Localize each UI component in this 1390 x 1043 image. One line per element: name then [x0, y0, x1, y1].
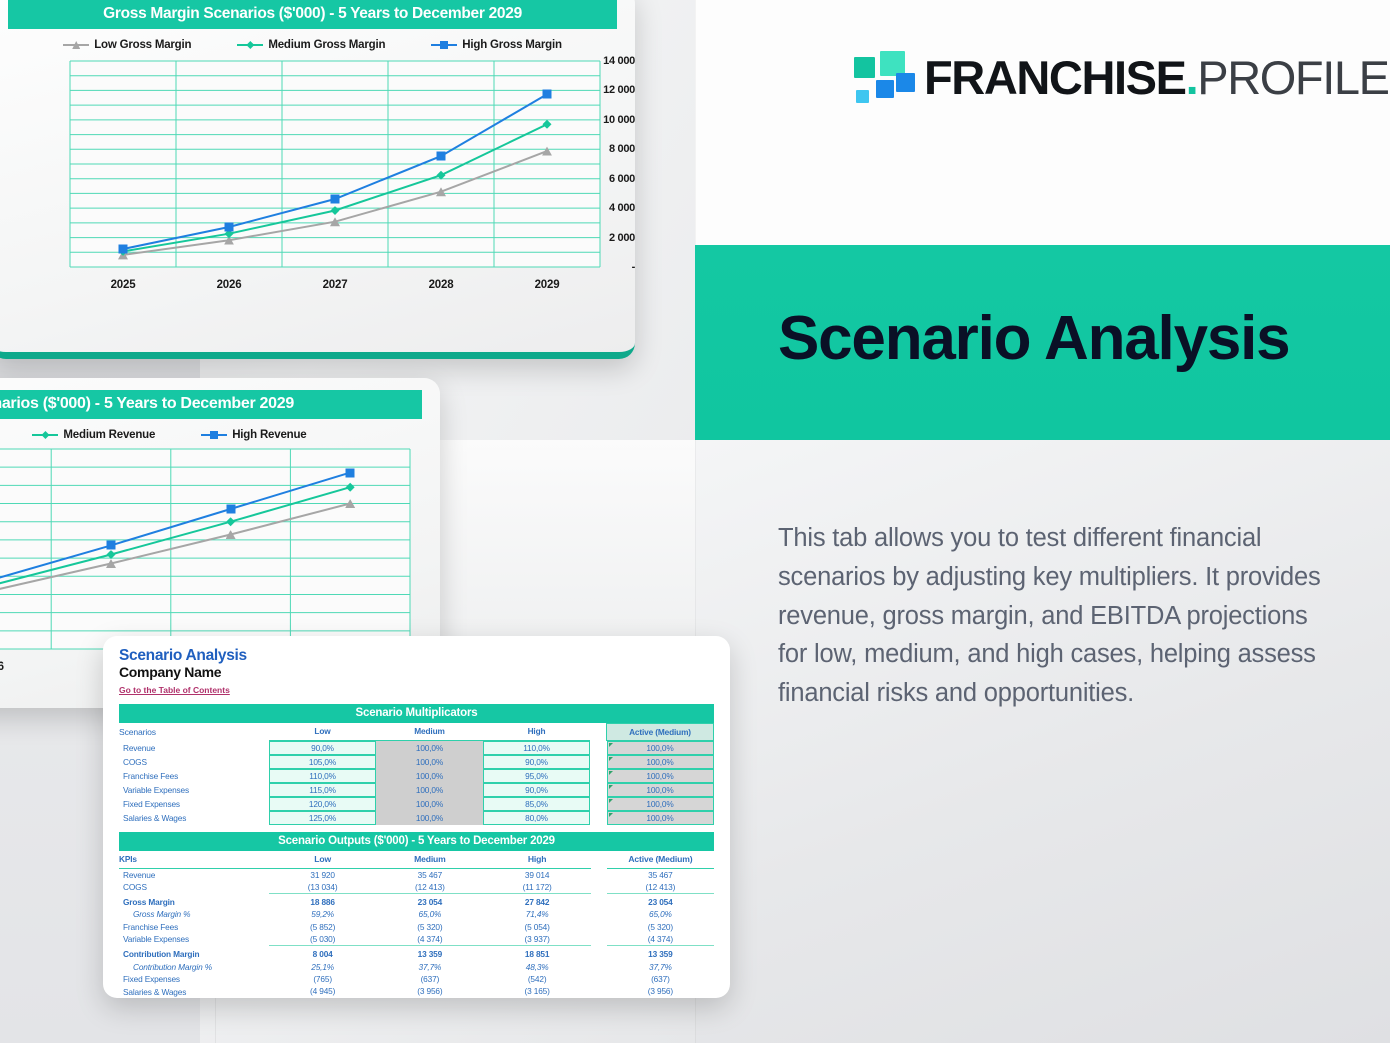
multiplicators-band: Scenario Multiplicators	[119, 704, 714, 723]
cell-low[interactable]: 125,0%	[269, 811, 376, 825]
y-axis-tick: -	[564, 261, 635, 273]
row-label: Franchise Fees	[119, 769, 269, 783]
gross-margin-chart-card: Gross Margin Scenarios ($'000) - 5 Years…	[0, 0, 635, 359]
legend-label-medium-revenue: Medium Revenue	[63, 429, 155, 441]
brand-logo: FRANCHISE.PROFILES	[852, 48, 1352, 110]
cell-medium[interactable]: 100,0%	[376, 769, 483, 783]
table-row: Revenue31 92035 46739 01435 467	[119, 868, 714, 881]
legend-marker-medium-icon	[237, 44, 263, 46]
cell-low: (5 030)	[269, 933, 376, 946]
cell-high: (5 054)	[484, 921, 591, 933]
cell-active[interactable]: 100,0%	[607, 811, 714, 825]
legend-marker-medium-icon	[32, 434, 58, 436]
y-axis-tick: 14 000	[564, 55, 635, 67]
x-axis-tick: 2025	[111, 279, 136, 291]
cell-medium[interactable]: 100,0%	[376, 741, 483, 755]
data-point	[437, 152, 446, 161]
scenario-analysis-sheet-card: Scenario Analysis Company Name Go to the…	[103, 636, 730, 998]
row-label: COGS	[119, 881, 269, 894]
cell-low[interactable]: 105,0%	[269, 755, 376, 769]
row-label: Salaries & Wages	[119, 985, 269, 998]
mult-header-high: High	[483, 723, 590, 741]
legend-marker-high-icon	[431, 44, 457, 46]
row-label: Franchise Fees	[119, 921, 269, 933]
legend-label-medium: Medium Gross Margin	[268, 39, 385, 51]
logo-word-light: PROFILES	[1197, 51, 1390, 104]
cell-high: 18 851	[484, 948, 591, 960]
cell-active[interactable]: 100,0%	[607, 797, 714, 811]
chart-legend-revenue: Low Revenue Medium Revenue High Revenue	[0, 429, 440, 441]
legend-item-high-revenue[interactable]: High Revenue	[201, 429, 306, 441]
logo-wordmark: FRANCHISE.PROFILES	[924, 48, 1390, 108]
data-point	[107, 541, 116, 550]
table-row: Gross Margin18 88623 05427 84223 054	[119, 896, 714, 908]
cell-low[interactable]: 110,0%	[269, 769, 376, 783]
row-label: Contribution Margin %	[119, 961, 269, 973]
cell-active[interactable]: 100,0%	[607, 755, 714, 769]
background-panel-top-right	[695, 0, 1390, 245]
data-point	[346, 468, 355, 477]
table-row: Contribution Margin %25,1%37,7%48,3%37,7…	[119, 961, 714, 973]
cell-high: (542)	[484, 973, 591, 985]
cell-medium[interactable]: 100,0%	[376, 755, 483, 769]
cell-high[interactable]: 80,0%	[483, 811, 590, 825]
cell-low[interactable]: 90,0%	[269, 741, 376, 755]
x-axis-tick: 2026	[217, 279, 242, 291]
cell-medium: 65,0%	[376, 908, 483, 920]
table-row: Franchise Fees110,0%100,0%95,0%100,0%	[119, 769, 714, 783]
legend-item-medium-revenue[interactable]: Medium Revenue	[32, 429, 155, 441]
cell-active: (3 956)	[607, 985, 714, 998]
chart-title-gross-margin: Gross Margin Scenarios ($'000) - 5 Years…	[8, 0, 617, 29]
row-label: Revenue	[119, 868, 269, 881]
cell-active: (637)	[607, 973, 714, 985]
table-row: Fixed Expenses120,0%100,0%85,0%100,0%	[119, 797, 714, 811]
x-axis-tick: 2029	[535, 279, 560, 291]
legend-label-high-revenue: High Revenue	[232, 429, 306, 441]
legend-marker-low-icon	[63, 44, 89, 46]
table-row: Fixed Expenses(765)(637)(542)(637)	[119, 973, 714, 985]
outputs-table: KPIs Low Medium High Active (Medium) Rev…	[119, 851, 714, 998]
row-label: Gross Margin %	[119, 908, 269, 920]
table-row: Franchise Fees(5 852)(5 320)(5 054)(5 32…	[119, 921, 714, 933]
legend-label-low: Low Gross Margin	[94, 39, 191, 51]
x-axis-tick: 2026	[0, 661, 4, 673]
mult-header-active: Active (Medium)	[607, 723, 714, 741]
cell-medium: (3 956)	[376, 985, 483, 998]
out-header-kpis: KPIs	[119, 851, 269, 868]
cell-high: 39 014	[484, 868, 591, 881]
table-row: COGS105,0%100,0%90,0%100,0%	[119, 755, 714, 769]
table-row: Variable Expenses115,0%100,0%90,0%100,0%	[119, 783, 714, 797]
cell-active: 35 467	[607, 868, 714, 881]
cell-active: 23 054	[607, 896, 714, 908]
cell-low: (765)	[269, 973, 376, 985]
cell-medium: 13 359	[376, 948, 483, 960]
row-label: Fixed Expenses	[119, 973, 269, 985]
table-of-contents-link[interactable]: Go to the Table of Contents	[119, 685, 230, 695]
multiplicators-body: Revenue90,0%100,0%110,0%100,0%COGS105,0%…	[119, 741, 714, 826]
data-point	[543, 90, 552, 99]
sheet-title: Scenario Analysis	[119, 647, 714, 665]
table-row: Revenue90,0%100,0%110,0%100,0%	[119, 741, 714, 756]
legend-marker-high-icon	[201, 434, 227, 436]
cell-high: (3 937)	[484, 933, 591, 946]
logo-dot: .	[1186, 51, 1198, 104]
cell-medium[interactable]: 100,0%	[376, 797, 483, 811]
sheet-company-name: Company Name	[119, 664, 714, 680]
row-label: Contribution Margin	[119, 948, 269, 960]
cell-low: 31 920	[269, 868, 376, 881]
cell-low[interactable]: 120,0%	[269, 797, 376, 811]
table-row: Salaries & Wages125,0%100,0%80,0%100,0%	[119, 811, 714, 825]
mult-header-medium: Medium	[376, 723, 483, 741]
cell-low: (5 852)	[269, 921, 376, 933]
chart-title-revenue: Revenue Scenarios ($'000) - 5 Years to D…	[0, 390, 422, 419]
cell-medium: 37,7%	[376, 961, 483, 973]
row-label: Variable Expenses	[119, 933, 269, 946]
y-axis-tick: 6 000	[564, 173, 635, 185]
out-header-active: Active (Medium)	[607, 851, 714, 868]
cell-medium: (12 413)	[376, 881, 483, 894]
cell-high[interactable]: 110,0%	[483, 741, 590, 755]
table-row: Salaries & Wages(4 945)(3 956)(3 165)(3 …	[119, 985, 714, 998]
cell-medium[interactable]: 100,0%	[376, 783, 483, 797]
cell-high[interactable]: 85,0%	[483, 797, 590, 811]
cell-low: 25,1%	[269, 961, 376, 973]
cell-active: (4 374)	[607, 933, 714, 946]
cell-low: (13 034)	[269, 881, 376, 894]
row-label: Gross Margin	[119, 896, 269, 908]
logo-squares-icon	[852, 50, 914, 106]
table-row: Contribution Margin8 00413 35918 85113 3…	[119, 948, 714, 960]
table-row: COGS(13 034)(12 413)(11 172)(12 413)	[119, 881, 714, 894]
mult-header-low: Low	[269, 723, 376, 741]
out-header-low: Low	[269, 851, 376, 868]
slide-canvas: FRANCHISE.PROFILES Scenario Analysis Thi…	[0, 0, 1390, 1043]
row-label: Salaries & Wages	[119, 811, 269, 825]
table-row: Variable Expenses(5 030)(4 374)(3 937)(4…	[119, 933, 714, 946]
outputs-header-row: KPIs Low Medium High Active (Medium)	[119, 851, 714, 868]
data-point	[226, 505, 235, 514]
y-axis-tick: 12 000	[564, 84, 635, 96]
multiplicators-header-row: Scenarios Low Medium High Active (Medium…	[119, 723, 714, 741]
cell-medium: 23 054	[376, 896, 483, 908]
cell-high: (11 172)	[484, 881, 591, 894]
cell-high: (3 165)	[484, 985, 591, 998]
logo-word-bold: FRANCHISE	[924, 51, 1186, 104]
cell-high: 27 842	[484, 896, 591, 908]
cell-active: 13 359	[607, 948, 714, 960]
cell-high[interactable]: 90,0%	[483, 783, 590, 797]
cell-high: 71,4%	[484, 908, 591, 920]
cell-active[interactable]: 100,0%	[607, 741, 714, 755]
cell-active: 37,7%	[607, 961, 714, 973]
data-point	[331, 195, 340, 204]
chart-svg	[0, 51, 635, 311]
data-point	[225, 223, 234, 232]
cell-medium[interactable]: 100,0%	[376, 811, 483, 825]
legend-item-medium[interactable]: Medium Gross Margin	[237, 39, 385, 51]
y-axis-tick: 8 000	[564, 143, 635, 155]
page-description: This tab allows you to test different fi…	[778, 519, 1330, 713]
cell-active: 65,0%	[607, 908, 714, 920]
legend-item-low[interactable]: Low Gross Margin	[63, 39, 191, 51]
out-header-high: High	[484, 851, 591, 868]
cell-low: 18 886	[269, 896, 376, 908]
cell-high[interactable]: 95,0%	[483, 769, 590, 783]
outputs-band: Scenario Outputs ($'000) - 5 Years to De…	[119, 832, 714, 851]
cell-active: (12 413)	[607, 881, 714, 894]
x-axis-tick: 2027	[323, 279, 348, 291]
data-point	[119, 245, 128, 254]
cell-active[interactable]: 100,0%	[607, 769, 714, 783]
cell-low: (4 945)	[269, 985, 376, 998]
cell-active[interactable]: 100,0%	[607, 783, 714, 797]
y-axis-tick: 4 000	[564, 202, 635, 214]
cell-low[interactable]: 115,0%	[269, 783, 376, 797]
cell-medium: (5 320)	[376, 921, 483, 933]
cell-active: (5 320)	[607, 921, 714, 933]
outputs-body: Revenue31 92035 46739 01435 467COGS(13 0…	[119, 868, 714, 998]
cell-low: 59,2%	[269, 908, 376, 920]
out-header-medium: Medium	[376, 851, 483, 868]
cell-low: 8 004	[269, 948, 376, 960]
x-axis-tick: 2028	[429, 279, 454, 291]
gross-margin-plot: -2 0004 0006 0008 00010 00012 00014 0002…	[0, 51, 635, 311]
cell-medium: 35 467	[376, 868, 483, 881]
y-axis-tick: 10 000	[564, 114, 635, 126]
row-label: Fixed Expenses	[119, 797, 269, 811]
row-label: COGS	[119, 755, 269, 769]
y-axis-tick: 2 000	[564, 232, 635, 244]
cell-high[interactable]: 90,0%	[483, 755, 590, 769]
cell-medium: (4 374)	[376, 933, 483, 946]
legend-label-high: High Gross Margin	[462, 39, 561, 51]
table-row: Gross Margin %59,2%65,0%71,4%65,0%	[119, 908, 714, 920]
cell-medium: (637)	[376, 973, 483, 985]
multiplicators-table: Scenarios Low Medium High Active (Medium…	[119, 723, 714, 826]
row-label: Variable Expenses	[119, 783, 269, 797]
chart-legend-gross-margin: Low Gross Margin Medium Gross Margin Hig…	[0, 39, 635, 51]
mult-header-scenarios: Scenarios	[119, 723, 269, 741]
cell-high: 48,3%	[484, 961, 591, 973]
legend-item-high[interactable]: High Gross Margin	[431, 39, 561, 51]
row-label: Revenue	[119, 741, 269, 756]
scenario-analysis-sheet: Scenario Analysis Company Name Go to the…	[103, 636, 730, 998]
page-title: Scenario Analysis	[778, 306, 1378, 371]
